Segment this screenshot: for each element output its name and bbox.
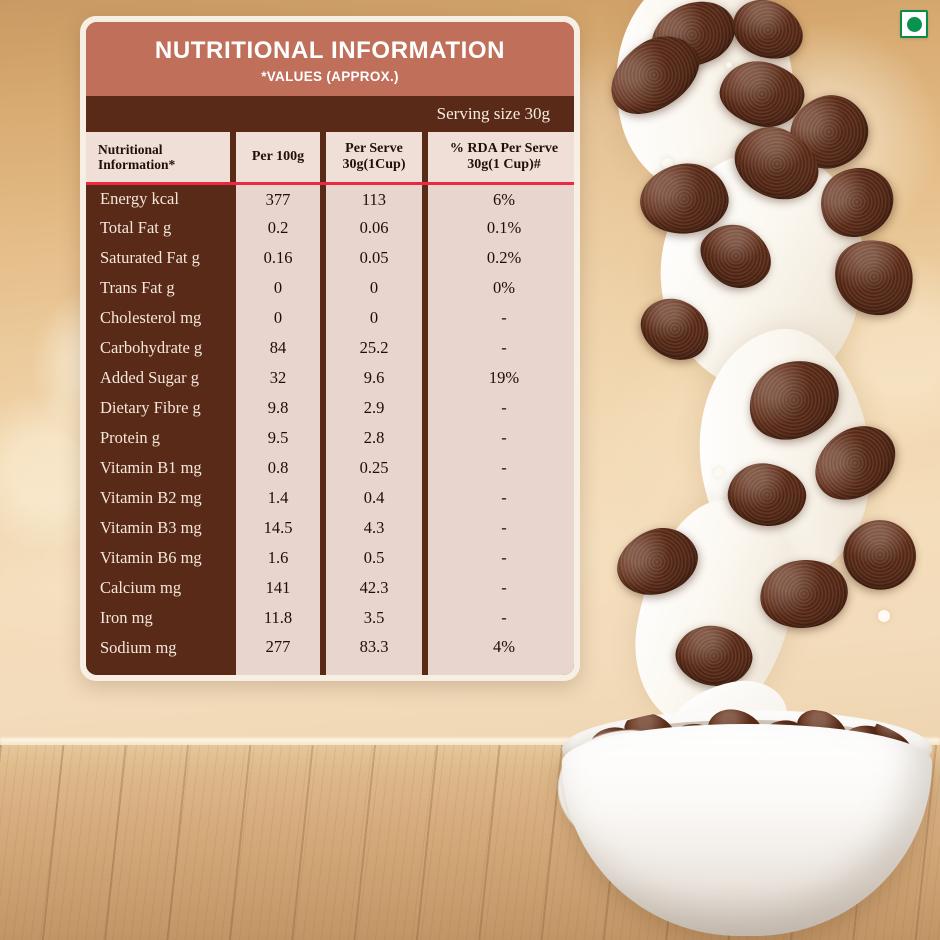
- footer-label-cell: [86, 663, 230, 675]
- milk-droplet: [878, 610, 890, 622]
- nutrient-per-serve: 2.9: [326, 393, 422, 423]
- nutrient-rda: 0.1%: [428, 213, 574, 243]
- nutrient-per-100g: 0.8: [236, 453, 320, 483]
- table-row: Carbohydrate g8425.2-: [86, 333, 574, 363]
- nutrient-per-100g: 84: [236, 333, 320, 363]
- nutrient-rda: 19%: [428, 363, 574, 393]
- nutrient-per-serve: 0.5: [326, 543, 422, 573]
- nutrient-rda: -: [428, 303, 574, 333]
- table-row: Trans Fat g000%: [86, 273, 574, 303]
- nutrient-per-serve: 4.3: [326, 513, 422, 543]
- nutrition-card-inner: NUTRITIONAL INFORMATION *VALUES (APPROX.…: [86, 22, 574, 675]
- nutrient-per-serve: 113: [326, 183, 422, 213]
- table-row: Protein g9.52.8-: [86, 423, 574, 453]
- nutrient-per-100g: 0: [236, 273, 320, 303]
- cereal-bowl: [556, 690, 940, 940]
- nutrient-per-serve: 9.6: [326, 363, 422, 393]
- nutrient-rda: -: [428, 483, 574, 513]
- footer-value-cell: [236, 663, 320, 675]
- nutrient-per-serve: 2.8: [326, 423, 422, 453]
- table-row: Vitamin B1 mg0.80.25-: [86, 453, 574, 483]
- nutrient-per-100g: 0.16: [236, 243, 320, 273]
- nutrient-per-100g: 277: [236, 633, 320, 663]
- nutrient-label: Calcium mg: [86, 573, 230, 603]
- nutrient-rda: -: [428, 603, 574, 633]
- nutrient-rda: -: [428, 513, 574, 543]
- table-row: Energy kcal3771136%: [86, 183, 574, 213]
- table-row: Added Sugar g329.619%: [86, 363, 574, 393]
- nutrient-label: Vitamin B6 mg: [86, 543, 230, 573]
- nutrient-label: Vitamin B2 mg: [86, 483, 230, 513]
- nutrient-per-serve: 0.05: [326, 243, 422, 273]
- table-header-row: Nutritional Information* Per 100g Per Se…: [86, 132, 574, 183]
- nutrient-rda: 6%: [428, 183, 574, 213]
- milk-droplet: [714, 468, 723, 477]
- nutrient-label: Saturated Fat g: [86, 243, 230, 273]
- per-serve-line1: Per Serve: [345, 141, 403, 156]
- nutrient-per-serve: 0.06: [326, 213, 422, 243]
- table-row: Total Fat g0.20.060.1%: [86, 213, 574, 243]
- nutrient-rda: -: [428, 423, 574, 453]
- nutrient-per-100g: 1.4: [236, 483, 320, 513]
- nutrient-per-100g: 377: [236, 183, 320, 213]
- nutrient-per-100g: 32: [236, 363, 320, 393]
- nutrition-banner: NUTRITIONAL INFORMATION *VALUES (APPROX.…: [86, 22, 574, 96]
- table-row: Sodium mg27783.34%: [86, 633, 574, 663]
- milk-droplet: [726, 62, 732, 68]
- nutrient-per-serve: 0.4: [326, 483, 422, 513]
- rda-line2: 30g(1 Cup)#: [467, 157, 541, 172]
- nutrient-label: Added Sugar g: [86, 363, 230, 393]
- nutrition-card: NUTRITIONAL INFORMATION *VALUES (APPROX.…: [80, 16, 580, 681]
- table-row: Saturated Fat g0.160.050.2%: [86, 243, 574, 273]
- nutrient-label: Sodium mg: [86, 633, 230, 663]
- per-serve-line2: 30g(1Cup): [342, 157, 405, 172]
- banner-subtitle: *VALUES (APPROX.): [96, 69, 564, 84]
- nutrient-per-serve: 42.3: [326, 573, 422, 603]
- column-header-per-100g: Per 100g: [236, 132, 320, 183]
- nutrient-per-100g: 14.5: [236, 513, 320, 543]
- nutrient-per-100g: 9.5: [236, 423, 320, 453]
- nutrient-rda: 0%: [428, 273, 574, 303]
- vegetarian-mark-icon: [900, 10, 928, 38]
- column-header-label-line1: Nutritional Information*: [98, 142, 175, 172]
- table-row: Vitamin B2 mg1.40.4-: [86, 483, 574, 513]
- nutrient-label: Vitamin B1 mg: [86, 453, 230, 483]
- nutrient-per-serve: 0.25: [326, 453, 422, 483]
- nutrient-rda: -: [428, 543, 574, 573]
- nutrient-label: Dietary Fibre g: [86, 393, 230, 423]
- table-row: Calcium mg14142.3-: [86, 573, 574, 603]
- nutrient-per-serve: 0: [326, 273, 422, 303]
- nutrient-label: Trans Fat g: [86, 273, 230, 303]
- column-header-per-serve: Per Serve 30g(1Cup): [326, 132, 422, 183]
- nutrient-rda: 4%: [428, 633, 574, 663]
- nutrient-label: Carbohydrate g: [86, 333, 230, 363]
- table-row: Vitamin B6 mg1.60.5-: [86, 543, 574, 573]
- footer-value-cell: [428, 663, 574, 675]
- nutrient-label: Iron mg: [86, 603, 230, 633]
- nutrient-per-100g: 1.6: [236, 543, 320, 573]
- nutrient-label: Vitamin B3 mg: [86, 513, 230, 543]
- table-row: Dietary Fibre g9.82.9-: [86, 393, 574, 423]
- nutrient-rda: -: [428, 333, 574, 363]
- footer-value-cell: [326, 663, 422, 675]
- table-row: Vitamin B3 mg14.54.3-: [86, 513, 574, 543]
- nutrition-table-body: Energy kcal3771136%Total Fat g0.20.060.1…: [86, 183, 574, 663]
- nutrient-rda: -: [428, 573, 574, 603]
- nutrient-per-100g: 0.2: [236, 213, 320, 243]
- nutrient-label: Energy kcal: [86, 183, 230, 213]
- nutrient-per-100g: 0: [236, 303, 320, 333]
- page-title: NUTRITIONAL INFORMATION: [96, 38, 564, 64]
- nutrient-per-serve: 0: [326, 303, 422, 333]
- nutrient-label: Cholesterol mg: [86, 303, 230, 333]
- nutrition-table: Nutritional Information* Per 100g Per Se…: [86, 132, 574, 675]
- serving-size-band: Serving size 30g: [86, 96, 574, 132]
- table-footer-spacer: [86, 663, 574, 675]
- nutrient-rda: -: [428, 393, 574, 423]
- nutrient-label: Protein g: [86, 423, 230, 453]
- nutrient-label: Total Fat g: [86, 213, 230, 243]
- nutrient-rda: -: [428, 453, 574, 483]
- nutrient-per-serve: 83.3: [326, 633, 422, 663]
- nutrient-per-serve: 3.5: [326, 603, 422, 633]
- column-header-label: Nutritional Information*: [86, 132, 230, 183]
- serving-size-text: Serving size 30g: [437, 104, 550, 124]
- bowl-body: [562, 724, 932, 936]
- nutrient-rda: 0.2%: [428, 243, 574, 273]
- column-header-rda: % RDA Per Serve 30g(1 Cup)#: [428, 132, 574, 183]
- table-row: Cholesterol mg00-: [86, 303, 574, 333]
- nutrient-per-100g: 141: [236, 573, 320, 603]
- vegetarian-green-dot: [907, 17, 922, 32]
- table-row: Iron mg11.83.5-: [86, 603, 574, 633]
- nutrient-per-100g: 9.8: [236, 393, 320, 423]
- nutrient-per-serve: 25.2: [326, 333, 422, 363]
- nutrient-per-100g: 11.8: [236, 603, 320, 633]
- rda-line1: % RDA Per Serve: [450, 141, 558, 156]
